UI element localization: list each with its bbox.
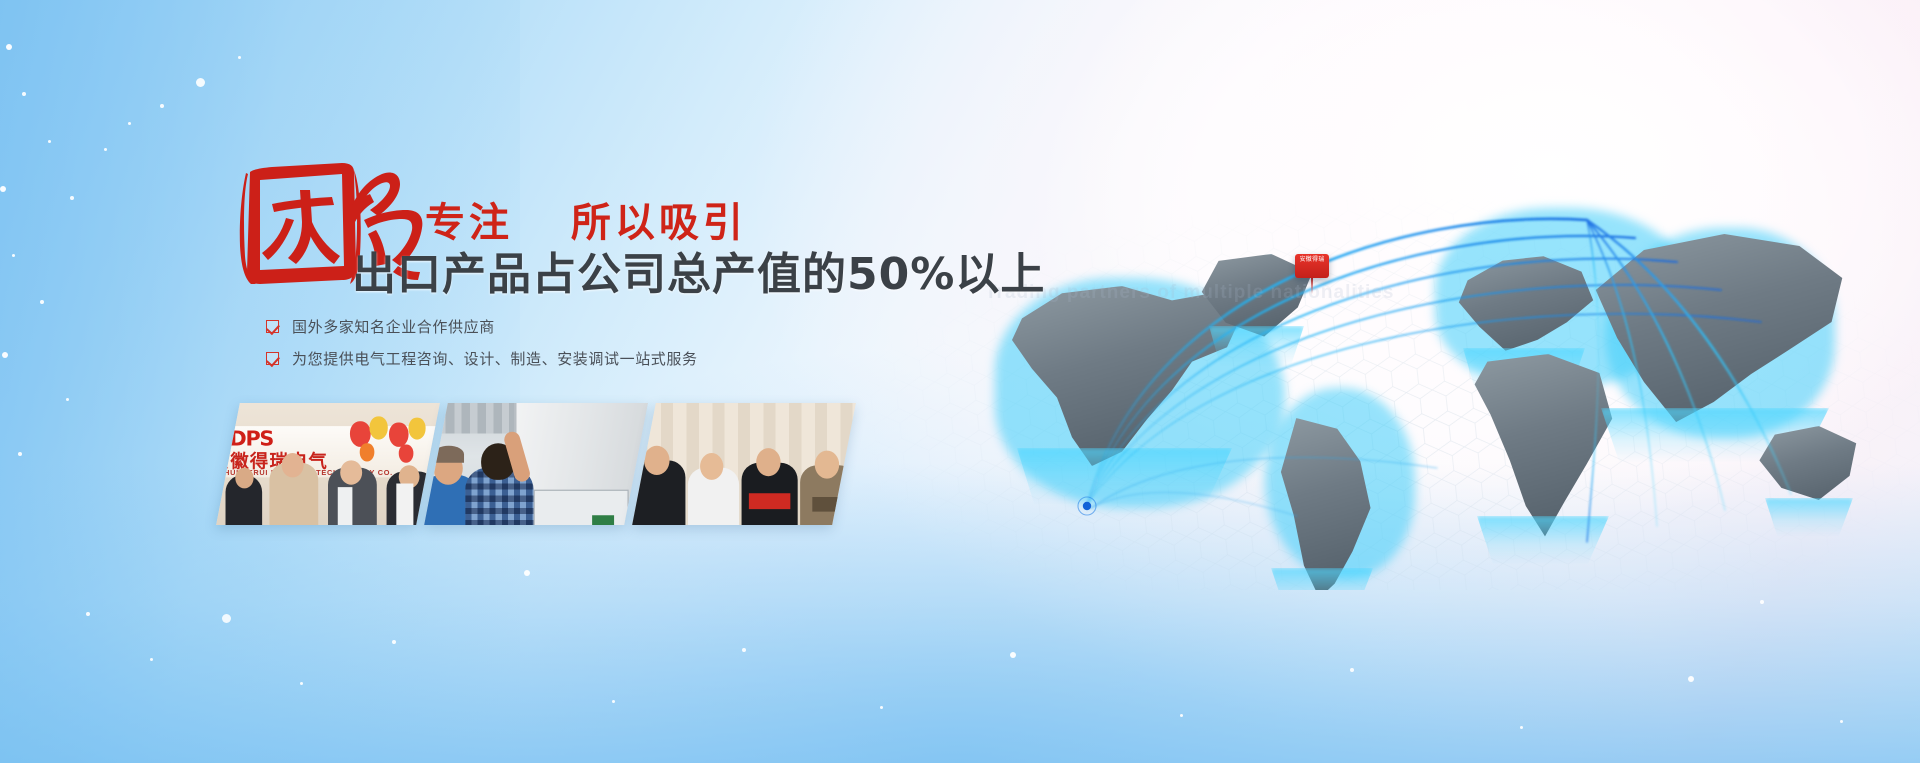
list-item: 为您提供电气工程咨询、设计、制造、安装调试一站式服务	[266, 348, 698, 369]
location-pin-china: 安徽得瑞	[1295, 254, 1329, 278]
photo-factory-inspection[interactable]	[424, 403, 648, 525]
location-pin-label: 安徽得瑞	[1295, 254, 1329, 268]
feature-bullet-list: 国外多家知名企业合作供应商 为您提供电气工程咨询、设计、制造、安装调试一站式服务	[266, 316, 698, 380]
world-map-globe: 安徽得瑞 Trading partners of multiple nation…	[845, 150, 1920, 590]
globe-watermark-text: Trading partners of multiple nationaliti…	[985, 282, 1394, 304]
checkbox-checked-icon	[266, 320, 279, 333]
flight-route-arcs	[845, 150, 1920, 590]
checkbox-checked-icon	[266, 352, 279, 365]
page-title: 出口产品占公司总产值的50%以上	[352, 238, 1045, 302]
hero-banner: 安徽得瑞 Trading partners of multiple nation…	[0, 0, 1920, 763]
list-item-label: 国外多家知名企业合作供应商	[292, 316, 495, 337]
photo-three-men[interactable]	[632, 403, 856, 525]
photo-strip: HDPS 安徽得瑞电气 ANHUI DERUI ELECTRIC TECHNOL…	[216, 403, 860, 525]
list-item-label: 为您提供电气工程咨询、设计、制造、安装调试一站式服务	[292, 348, 698, 369]
list-item: 国外多家知名企业合作供应商	[266, 316, 698, 337]
hero-content: 专注 所以吸引 出口产品占公司总产值的50%以上 国外多家知名企业合作供应商 为…	[0, 0, 960, 763]
photo-group-with-banner[interactable]: HDPS 安徽得瑞电气 ANHUI DERUI ELECTRIC TECHNOL…	[216, 403, 440, 525]
